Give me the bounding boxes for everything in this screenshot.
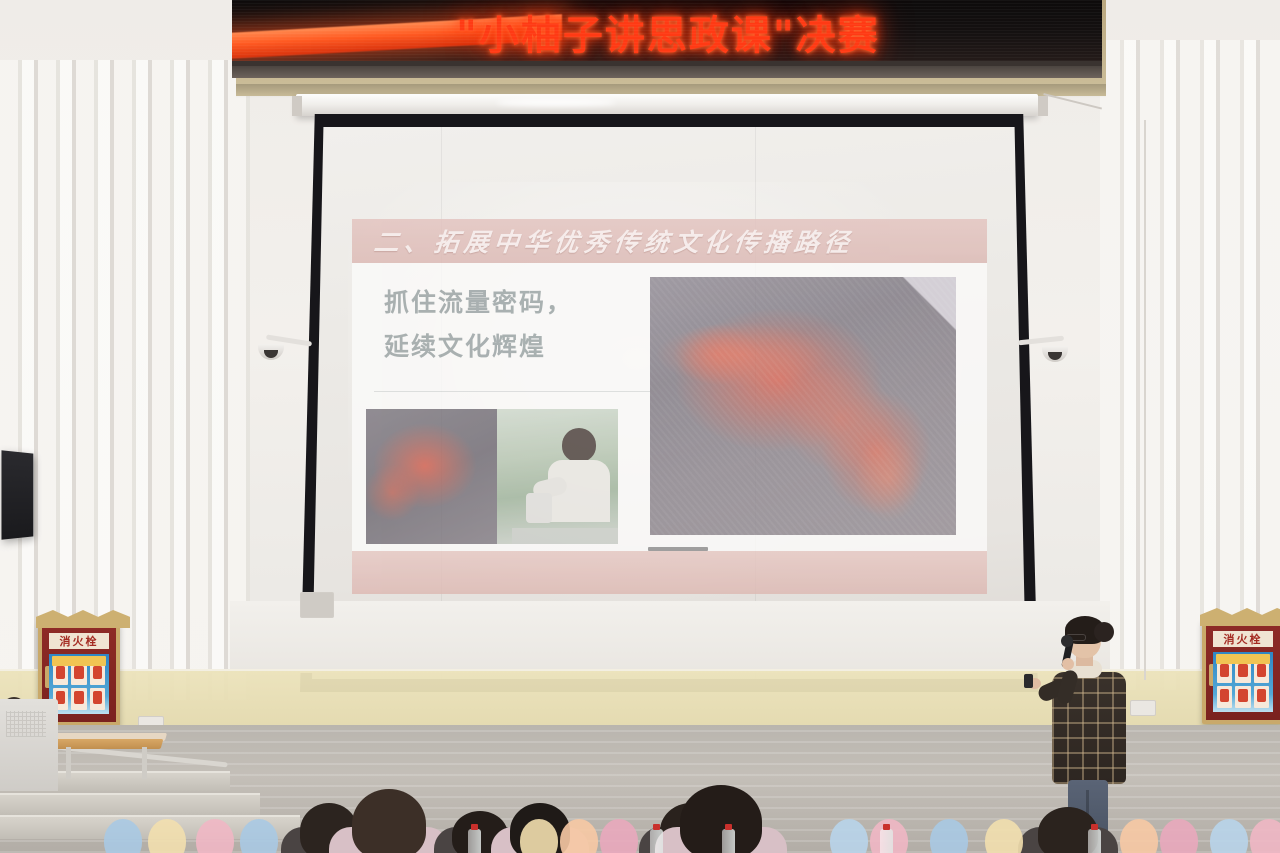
celebration-balloon <box>560 819 598 853</box>
roller-highlight <box>496 99 616 106</box>
celebration-balloon <box>1160 819 1198 853</box>
water-bottle[interactable] <box>1088 829 1101 853</box>
bottle-cap <box>471 824 478 830</box>
fluted-wall-panel-left <box>0 60 250 700</box>
microphone-head <box>1061 635 1073 647</box>
lectern-podium[interactable] <box>0 699 58 791</box>
led-banner-text: "小柚子讲思政课"决赛 <box>456 3 1076 61</box>
led-banner-bezel <box>232 66 1102 78</box>
wall-utility-box[interactable] <box>300 592 334 618</box>
bottle-cap <box>1091 824 1098 830</box>
craft-person-head <box>562 428 596 462</box>
celebration-balloon <box>1210 819 1248 853</box>
celebration-balloon <box>1250 819 1280 853</box>
craft-image-person-half <box>497 409 618 544</box>
celebration-balloon <box>196 819 234 853</box>
audience-member-head <box>680 785 762 853</box>
water-bottle[interactable] <box>880 829 893 853</box>
celebration-balloon <box>930 819 968 853</box>
fire-hydrant-label-right: 消火栓 <box>1213 631 1272 647</box>
celebration-balloon <box>1120 819 1158 853</box>
projector-screen-roller-housing <box>296 94 1038 116</box>
presentation-clicker[interactable] <box>1024 674 1033 688</box>
water-bottle[interactable] <box>722 829 735 853</box>
projection-screen-surface: 二、拓展中华优秀传统文化传播路径 抓住流量密码， 延续文化辉煌 <box>312 127 1026 679</box>
slide-body: 抓住流量密码， 延续文化辉煌 <box>352 263 987 551</box>
craft-object <box>526 493 552 523</box>
slide-header-title: 二、拓展中华优秀传统文化传播路径 <box>350 223 856 259</box>
slide-image-craft-person <box>366 409 618 544</box>
craft-table <box>512 528 618 544</box>
fluted-wall-panel-right <box>1100 40 1280 690</box>
image-corner-fold <box>901 277 956 332</box>
slide-headline: 抓住流量密码， 延续文化辉煌 <box>384 281 634 369</box>
celebration-balloon <box>600 819 638 853</box>
fire-hydrant-label-left: 消火栓 <box>49 633 108 649</box>
projected-slide: 二、拓展中华优秀传统文化传播路径 抓住流量密码， 延续文化辉煌 <box>352 219 987 594</box>
bottle-cap <box>653 824 660 830</box>
safety-poster-title-right <box>1216 654 1269 664</box>
bottle-cap <box>725 824 732 830</box>
slide-header-band: 二、拓展中华优秀传统文化传播路径 <box>352 219 987 263</box>
craft-image-dragon-half <box>366 409 497 544</box>
safety-poster-title-left <box>52 656 105 666</box>
led-marquee-banner: "小柚子讲思政课"决赛 <box>232 0 1102 66</box>
cabinet-crown-left <box>36 610 130 628</box>
wall-mounted-display <box>1 450 33 539</box>
desk-leg-right <box>142 747 147 779</box>
celebration-balloon <box>148 819 186 853</box>
hanging-cable <box>1144 120 1146 680</box>
presenter-right-hand <box>1062 658 1074 670</box>
celebration-balloon <box>240 819 278 853</box>
slide-headline-line2: 延续文化辉煌 <box>384 325 634 369</box>
water-bottle[interactable] <box>650 829 663 853</box>
camera-lens-right <box>1048 352 1062 360</box>
camera-lens-left <box>264 350 278 358</box>
auditorium-scene: "小柚子讲思政课"决赛 二、拓展中华优秀传统文化传播路径 抓住流量密码， 延续文… <box>0 0 1280 853</box>
slide-footer-band <box>352 551 987 594</box>
bottle-cap <box>883 824 890 830</box>
desk-leg-left <box>66 747 71 779</box>
presenter-hair-bun <box>1094 622 1114 642</box>
roller-bracket-left <box>292 96 302 116</box>
slide-headline-line1: 抓住流量密码， <box>384 281 634 325</box>
podium-speaker-grille <box>6 711 46 737</box>
audience-row <box>0 783 1280 853</box>
water-bottle[interactable] <box>468 829 481 853</box>
lower-wall-panel <box>230 601 1110 671</box>
slide-image-dragon-artwork <box>650 277 956 535</box>
fire-hydrant-cabinet-right[interactable]: 消火栓 <box>1202 620 1280 724</box>
celebration-balloon <box>830 819 868 853</box>
audience-member-head <box>352 789 426 853</box>
celebration-balloon <box>104 819 142 853</box>
celebration-balloon <box>985 819 1023 853</box>
